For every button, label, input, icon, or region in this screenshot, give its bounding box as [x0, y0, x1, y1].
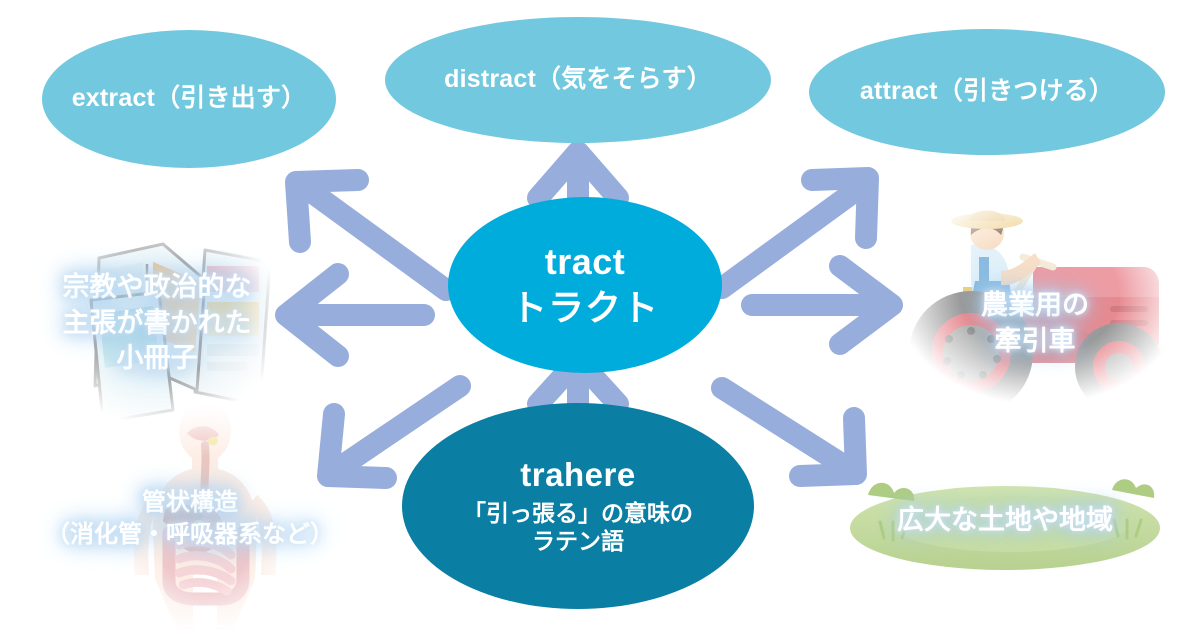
bubble-attract[interactable] [809, 29, 1165, 155]
bubble-distract[interactable] [385, 17, 771, 143]
bubbles-layer [0, 0, 1200, 630]
bubble-trahere[interactable] [402, 403, 754, 609]
bubble-tract[interactable] [448, 197, 722, 373]
diagram-canvas: extract（引き出す） distract（気をそらす） attract（引き… [0, 0, 1200, 630]
bubble-extract[interactable] [42, 30, 336, 168]
